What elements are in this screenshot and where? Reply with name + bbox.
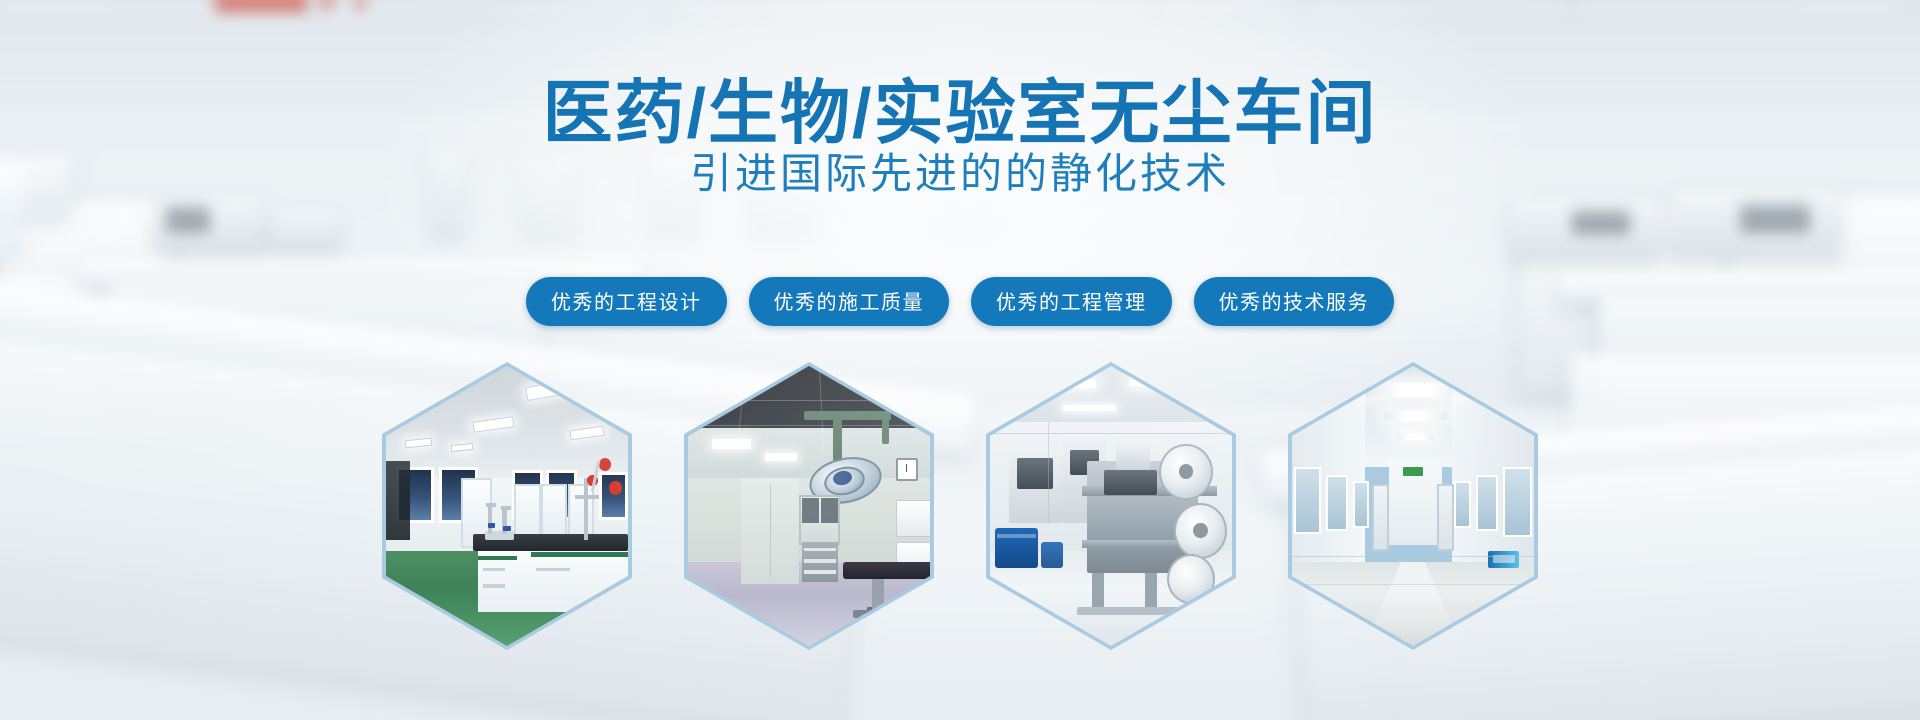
page-subtitle: 引进国际先进的的静化技术 (0, 150, 1920, 198)
hexagon-photo-corridor (1292, 366, 1534, 646)
pill-engineering-management[interactable]: 优秀的工程管理 (971, 277, 1172, 326)
page-title: 医药/生物/实验室无尘车间 (0, 76, 1920, 152)
hexagon-laboratory-bench-room[interactable] (382, 362, 632, 650)
feature-pill-row: 优秀的工程设计 优秀的施工质量 优秀的工程管理 优秀的技术服务 (0, 277, 1920, 326)
pill-construction-quality[interactable]: 优秀的施工质量 (749, 277, 950, 326)
hexagon-gallery (0, 362, 1920, 650)
pill-engineering-design[interactable]: 优秀的工程设计 (526, 277, 727, 326)
hero-banner: 医药/生物/实验室无尘车间 引进国际先进的的静化技术 优秀的工程设计 优秀的施工… (0, 0, 1920, 720)
hexagon-photo-operating-room (688, 366, 930, 646)
hexagon-photo-production-line (990, 366, 1232, 646)
hexagon-packaging-production-line[interactable] (986, 362, 1236, 650)
hexagon-operating-theatre[interactable] (684, 362, 934, 650)
hexagon-cleanroom-corridor[interactable] (1288, 362, 1538, 650)
pill-technical-service[interactable]: 优秀的技术服务 (1194, 277, 1395, 326)
hexagon-photo-laboratory (386, 366, 628, 646)
